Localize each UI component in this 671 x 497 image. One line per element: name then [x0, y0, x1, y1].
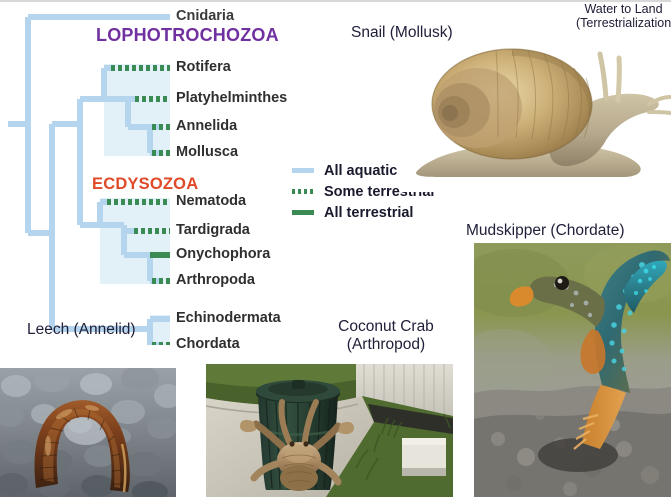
taxon-label-platyhelminthes: Platyhelminthes: [176, 91, 287, 106]
legend-label-all-aquatic: All aquatic: [324, 163, 397, 179]
taxon-label-mollusca: Mollusca: [176, 145, 238, 160]
clade-label-lophotrochozoa: LOPHOTROCHOZOA: [96, 26, 279, 44]
photo-coconut-crab: [206, 364, 453, 497]
photo-snail: [400, 42, 671, 192]
legend-item-all-terrestrial: All terrestrial: [291, 202, 434, 223]
taxon-label-onychophora: Onychophora: [176, 247, 270, 262]
taxon-label-annelida: Annelida: [176, 119, 237, 134]
annotation-water-to-land: Water to Land (Terrestrialization): [576, 2, 671, 31]
annotation-water-to-land-line1: Water to Land: [584, 2, 662, 16]
caption-mudskipper: Mudskipper (Chordate): [466, 222, 625, 240]
taxon-label-rotifera: Rotifera: [176, 60, 231, 75]
annotation-water-to-land-line2: (Terrestrialization): [576, 16, 671, 30]
legend-label-all-terrestrial: All terrestrial: [324, 205, 413, 221]
clade-box-lophotrochozoa: [104, 64, 170, 156]
photo-leech: [0, 368, 176, 497]
taxon-label-nematoda: Nematoda: [176, 194, 246, 209]
clade-box-ecdysozoa: [100, 198, 170, 284]
clade-label-ecdysozoa: ECDYSOZOA: [92, 176, 198, 193]
legend-swatch-some-terrestrial: [291, 181, 317, 202]
taxon-label-echinodermata: Echinodermata: [176, 311, 281, 326]
caption-coconut-crab-line2: (Arthropod): [347, 336, 425, 353]
legend-swatch-all-terrestrial: [291, 202, 317, 223]
caption-leech: Leech (Annelid): [27, 321, 136, 339]
caption-coconut-crab-line1: Coconut Crab: [338, 318, 434, 335]
photo-mudskipper: [474, 243, 671, 497]
taxon-label-cnidaria: Cnidaria: [176, 9, 234, 24]
caption-snail: Snail (Mollusk): [351, 24, 453, 42]
legend-swatch-all-aquatic: [291, 160, 317, 181]
caption-coconut-crab: Coconut Crab (Arthropod): [318, 318, 454, 354]
figure-canvas: Cnidaria Rotifera Platyhelminthes Anneli…: [0, 0, 671, 497]
taxon-label-chordata: Chordata: [176, 337, 240, 352]
taxon-label-tardigrada: Tardigrada: [176, 223, 250, 238]
taxon-label-arthropoda: Arthropoda: [176, 273, 255, 288]
